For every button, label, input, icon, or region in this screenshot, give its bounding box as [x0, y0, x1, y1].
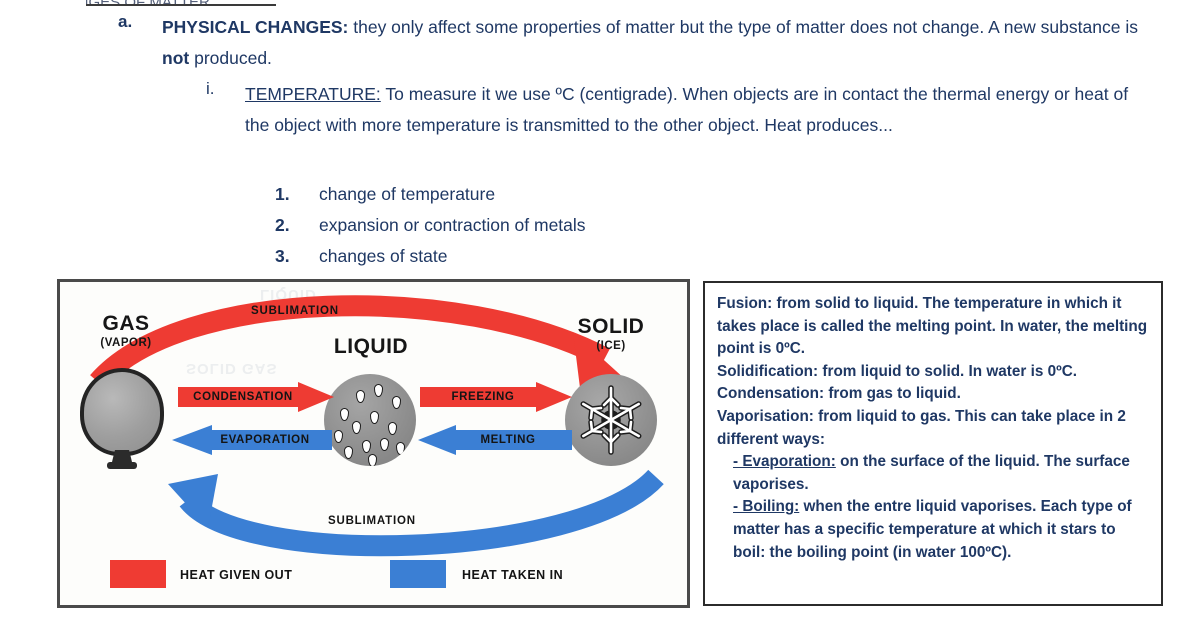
- cut-off-heading: CHANGES OF MATTER: [86, 0, 276, 6]
- state-label-solid: SOLID (ICE): [555, 315, 667, 352]
- note-term: Fusion:: [717, 295, 772, 312]
- condensation-arrow: CONDENSATION: [178, 382, 334, 412]
- note-rest: from gas to liquid.: [824, 385, 961, 402]
- state-label-gas-main: GAS: [74, 312, 178, 336]
- heat-effects-list: 1. change of temperature 2. expansion or…: [275, 179, 586, 272]
- sublimation-bottom-arrow: [168, 474, 656, 546]
- balloon-bulb: [80, 368, 164, 456]
- state-label-gas: GAS (VAPOR): [74, 312, 178, 349]
- freezing-arrow-label: FREEZING: [452, 391, 515, 403]
- list-number: 3.: [275, 241, 319, 272]
- state-label-liquid: LIQUID: [308, 335, 434, 359]
- state-label-solid-sub: (ICE): [555, 340, 667, 352]
- legend-label-heat-taken-in: HEAT TAKEN IN: [462, 568, 563, 582]
- state-label-solid-main: SOLID: [555, 315, 667, 339]
- evaporation-arrow: EVAPORATION: [172, 425, 332, 455]
- physical-changes-lead: PHYSICAL CHANGES:: [162, 17, 348, 37]
- list-item-temperature: i. TEMPERATURE: To measure it we use ºC …: [206, 79, 1146, 141]
- freezing-arrow: FREEZING: [420, 382, 572, 412]
- note-term: - Boiling:: [733, 498, 799, 515]
- list-text: expansion or contraction of metals: [319, 210, 586, 241]
- gas-balloon-icon: [80, 368, 168, 468]
- balloon-knot-base: [107, 462, 137, 469]
- physical-changes-text-2: produced.: [189, 48, 272, 68]
- note-line: Solidification: from liquid to solid. In…: [717, 361, 1149, 384]
- list-number: 2.: [275, 210, 319, 241]
- evaporation-arrow-label: EVAPORATION: [220, 434, 309, 446]
- cut-off-heading-text: CHANGES OF MATTER: [86, 0, 210, 6]
- note-rest: from liquid to solid. In water is 0ºC.: [818, 363, 1077, 380]
- note-rest: from solid to liquid. The temperature in…: [717, 295, 1147, 357]
- list-marker-a: a.: [118, 12, 132, 32]
- melting-arrow: MELTING: [418, 425, 572, 455]
- note-term: Condensation:: [717, 385, 824, 402]
- list-number: 1.: [275, 179, 319, 210]
- list-text: change of temperature: [319, 179, 495, 210]
- state-label-gas-sub: (VAPOR): [74, 337, 178, 349]
- physical-changes-body: PHYSICAL CHANGES: they only affect some …: [162, 12, 1138, 74]
- note-line: - Evaporation: on the surface of the liq…: [717, 451, 1149, 496]
- physical-changes-bold-not: not: [162, 48, 189, 68]
- temperature-lead: TEMPERATURE:: [245, 84, 381, 104]
- states-of-matter-diagram: LIQUID SOLID GAS EVAPORATION GAS (VAPOR)…: [57, 279, 690, 608]
- sublimation-top-label: SUBLIMATION: [251, 305, 339, 317]
- note-line: Condensation: from gas to liquid.: [717, 383, 1149, 406]
- note-term: - Evaporation:: [733, 453, 836, 470]
- melting-arrow-label: MELTING: [480, 434, 535, 446]
- liquid-droplets-icon: [324, 374, 416, 466]
- list-item-physical-changes: a. PHYSICAL CHANGES: they only affect so…: [118, 12, 1138, 74]
- solid-ice-icon: [565, 374, 657, 466]
- physical-changes-text-1: they only affect some properties of matt…: [348, 17, 1138, 37]
- note-term: Solidification:: [717, 363, 818, 380]
- note-line: - Boiling: when the entre liquid vaporis…: [717, 496, 1149, 564]
- legend-swatch-heat-taken-in: [390, 560, 446, 588]
- note-line: Vaporisation: from liquid to gas. This c…: [717, 406, 1149, 451]
- legend-swatch-heat-given-out: [110, 560, 166, 588]
- definitions-note-box: Fusion: from solid to liquid. The temper…: [703, 281, 1163, 606]
- state-label-liquid-main: LIQUID: [308, 335, 434, 359]
- list-item: 1. change of temperature: [275, 179, 586, 210]
- snowflake-icon: [571, 380, 651, 460]
- list-text: changes of state: [319, 241, 447, 272]
- list-marker-i: i.: [206, 79, 215, 99]
- condensation-arrow-label: CONDENSATION: [193, 391, 293, 403]
- legend-label-heat-given-out: HEAT GIVEN OUT: [180, 568, 292, 582]
- note-line: Fusion: from solid to liquid. The temper…: [717, 293, 1149, 361]
- list-item: 2. expansion or contraction of metals: [275, 210, 586, 241]
- sublimation-bottom-label: SUBLIMATION: [328, 515, 416, 527]
- list-item: 3. changes of state: [275, 241, 586, 272]
- note-term: Vaporisation:: [717, 408, 814, 425]
- temperature-body: TEMPERATURE: To measure it we use ºC (ce…: [245, 79, 1146, 141]
